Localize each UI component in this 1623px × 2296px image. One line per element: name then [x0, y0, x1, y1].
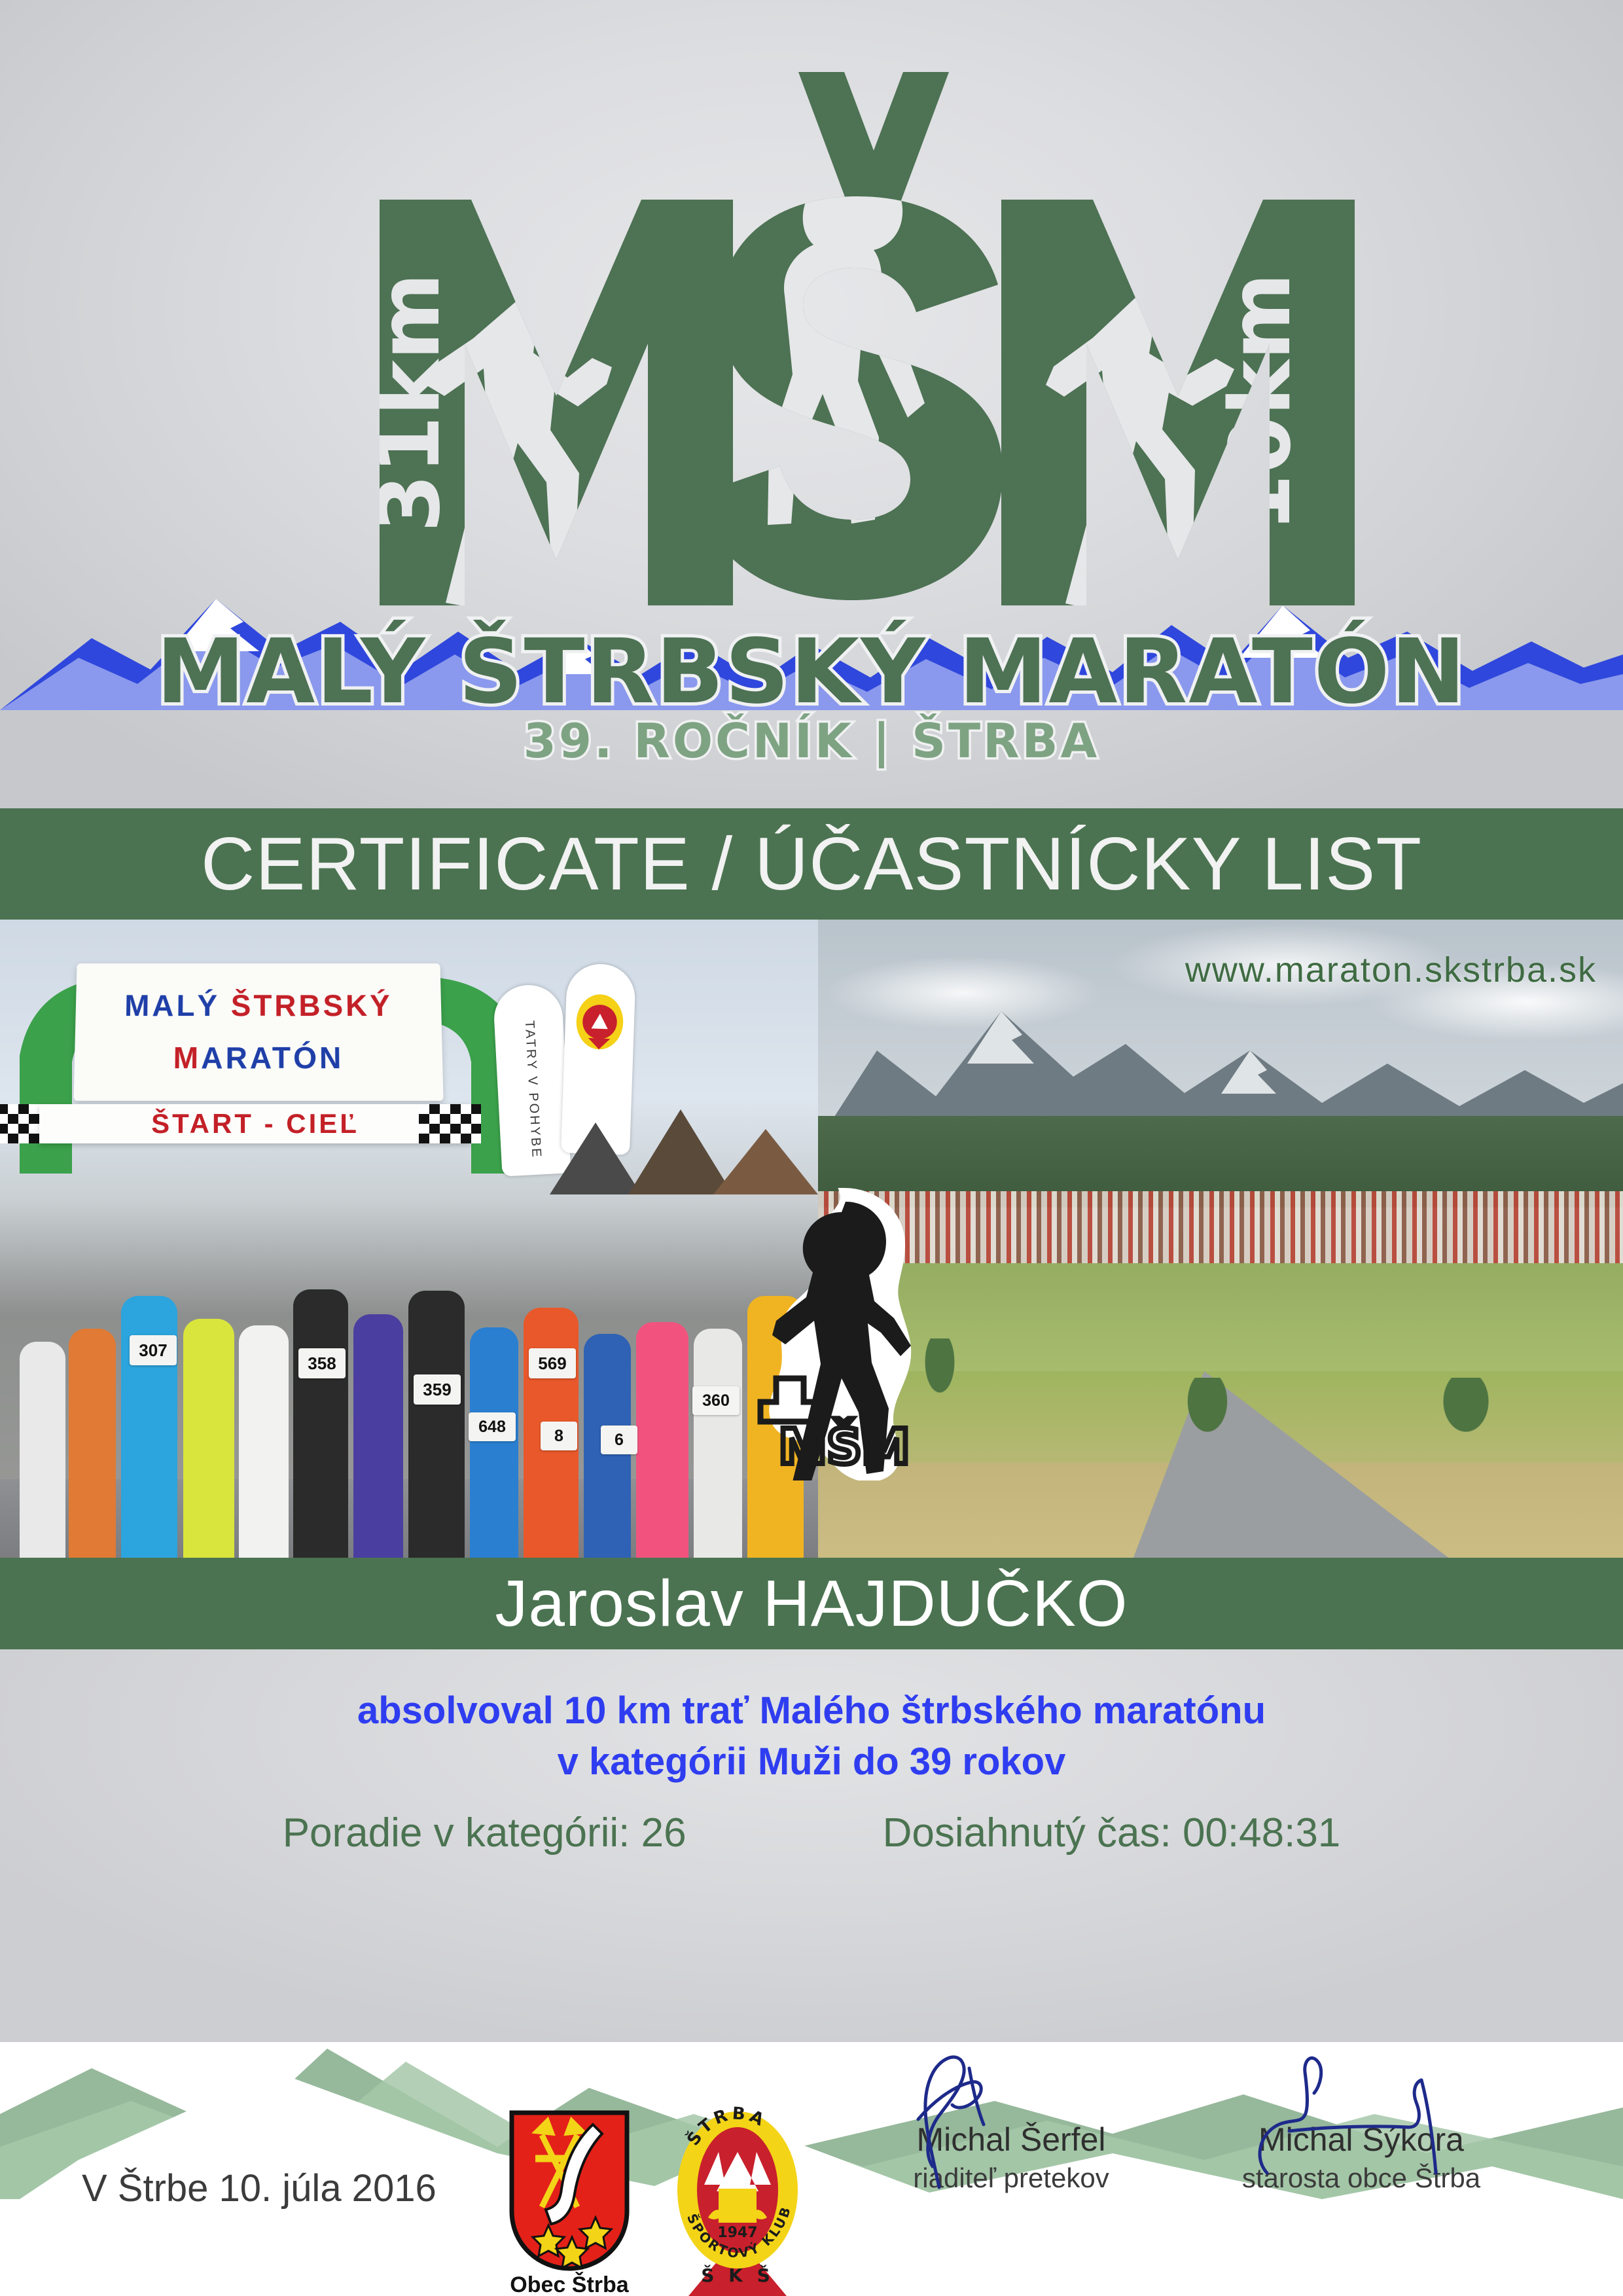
msm-sticker-label: MŠM	[779, 1418, 910, 1475]
rank-in-category: Poradie v kategórii: 26	[283, 1810, 687, 1856]
runner-figure	[293, 1289, 348, 1558]
participant-name-band: Jaroslav HAJDUČKO	[0, 1558, 1623, 1649]
logo-letter-m-left: 31km	[361, 200, 733, 607]
footer: V Štrbe 10. júla 2016 Obec	[0, 2029, 1623, 2296]
runner-bib: 358	[298, 1348, 346, 1378]
arch-banner: MALÝ ŠTRBSKÝ MARATÓN	[73, 963, 443, 1101]
signature-role: starosta obce Štrba	[1191, 2162, 1531, 2194]
signature-block-mayor: Michal Sýkora starosta obce Štrba	[1191, 2121, 1531, 2194]
website-url[interactable]: www.maraton.skstrba.sk	[1185, 950, 1597, 990]
obec-strba-crest: Obec Štrba	[504, 2109, 635, 2296]
arch-banner-line1: MALÝ ŠTRBSKÝ	[124, 988, 393, 1023]
runner-figure	[470, 1327, 518, 1558]
runner-bib: 569	[529, 1348, 576, 1378]
runner-bib: 359	[414, 1374, 461, 1405]
sks-year: 1947	[717, 2225, 757, 2241]
runner-figure	[353, 1314, 403, 1558]
certificate-page: 31km 10km	[0, 0, 1623, 2296]
sks-bottom-text: Š K Š	[701, 2264, 774, 2286]
svg-text:31km: 31km	[361, 273, 459, 533]
signature-block-director: Michal Šerfel riaditeľ pretekov	[841, 2121, 1181, 2194]
results-row: Poradie v kategórii: 26 Dosiahnutý čas: …	[0, 1810, 1623, 1856]
participant-name: Jaroslav HAJDUČKO	[495, 1566, 1128, 1641]
logo-letter-m-right: 10km	[1001, 200, 1355, 609]
issue-date: V Štrbe 10. júla 2016	[82, 2166, 437, 2210]
tree-icon	[1440, 1378, 1492, 1437]
achievement-line2: v kategórii Muži do 39 rokov	[0, 1736, 1623, 1787]
certificate-heading: CERTIFICATE / ÚČASTNÍCKY LIST	[201, 821, 1422, 907]
race-road	[1132, 1371, 1453, 1558]
signature-name: Michal Šerfel	[841, 2121, 1181, 2159]
runner-figure	[694, 1329, 742, 1558]
runner-bib: 307	[130, 1335, 177, 1365]
runner-figure	[636, 1322, 688, 1558]
caron-accent	[798, 72, 949, 213]
tree-icon	[1185, 1378, 1230, 1437]
checker-flag-right	[419, 1104, 481, 1143]
runner-figure	[408, 1291, 465, 1558]
achievement-line1: absolvoval 10 km trať Malého štrbského m…	[0, 1685, 1623, 1736]
runner-figure	[183, 1319, 234, 1558]
msm-runner-sticker-icon: MŠM	[746, 1186, 942, 1480]
start-line-photo: MALÝ ŠTRBSKÝ MARATÓN ŠTART - CIEĽ TATRY …	[0, 920, 818, 1558]
runner-bib: 360	[692, 1386, 740, 1415]
finish-time: Dosiahnutý čas: 00:48:31	[883, 1810, 1341, 1856]
runner-bib: 648	[469, 1412, 516, 1441]
logo-letter-s	[695, 174, 1003, 600]
event-title: MALÝ ŠTRBSKÝ MARATÓN	[0, 620, 1623, 724]
msm-logo: 31km 10km	[0, 0, 1623, 655]
certificate-heading-band: CERTIFICATE / ÚČASTNÍCKY LIST	[0, 808, 1623, 920]
flag-label-tatry: TATRY V POHYBE	[521, 1020, 543, 1159]
village-roofs-icon	[550, 1064, 818, 1194]
signature-name: Michal Sýkora	[1191, 2121, 1531, 2159]
svg-text:10km: 10km	[1212, 273, 1310, 533]
obec-strba-crest-icon	[504, 2109, 635, 2272]
msm-logo-svg: 31km 10km	[223, 36, 1400, 612]
obec-strba-caption: Obec Štrba	[504, 2272, 635, 2296]
arch-banner-line2: MARATÓN	[173, 1040, 344, 1075]
sks-flag-logo-icon	[564, 989, 635, 1060]
runner-figure	[20, 1342, 65, 1558]
start-finish-banner: ŠTART - CIEĽ	[39, 1104, 471, 1143]
sks-strba-logo: ŠTRBA ŠPORTOVÝ KLUB 1947 Š K Š	[668, 2106, 808, 2296]
runner-figure	[239, 1325, 289, 1558]
runner-bib: 6	[601, 1426, 637, 1454]
signature-role: riaditeľ pretekov	[841, 2162, 1181, 2194]
runner-crowd: 307 358 359 569 648 8 6 360	[0, 1250, 818, 1558]
sks-strba-logo-icon: ŠTRBA ŠPORTOVÝ KLUB 1947 Š K Š	[668, 2106, 808, 2296]
event-subtitle: 39. ROČNÍK | ŠTRBA	[0, 713, 1623, 768]
runner-bib: 8	[541, 1422, 577, 1450]
runner-figure	[69, 1329, 116, 1558]
achievement-text: absolvoval 10 km trať Malého štrbského m…	[0, 1685, 1623, 1788]
logo-hero-section: 31km 10km	[0, 0, 1623, 808]
